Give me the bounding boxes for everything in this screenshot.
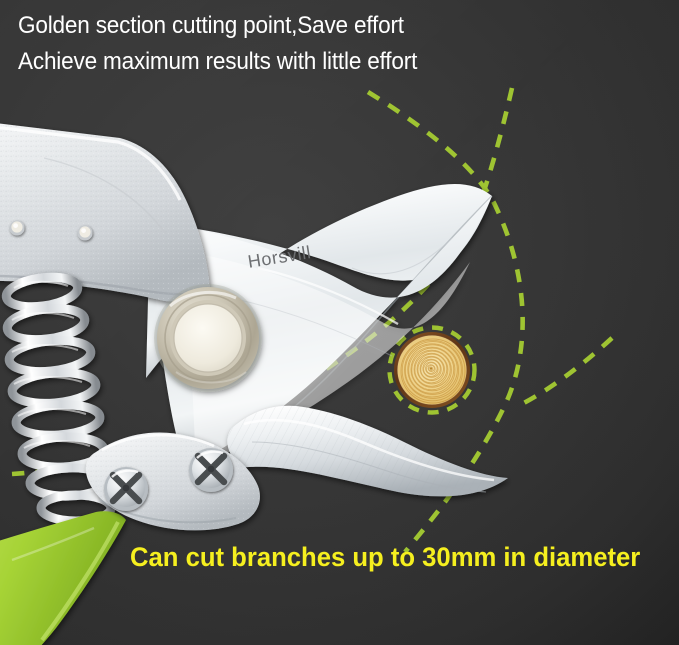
upper-handle-casting [0, 118, 210, 302]
pivot-bolt [154, 284, 262, 392]
lower-handle-grip [0, 511, 126, 645]
product-image-canvas: Golden section cutting point,Save effort… [0, 0, 679, 645]
phillips-screw-left [104, 467, 148, 511]
feature-caption: Can cut branches up to 30mm in diameter [130, 540, 640, 574]
headline-line-1: Golden section cutting point,Save effort [18, 8, 601, 44]
headline-line-2: Achieve maximum results with little effo… [18, 44, 601, 80]
phillips-screw-right [189, 448, 233, 492]
handle-rivet-left [10, 221, 25, 236]
headline-block: Golden section cutting point,Save effort… [18, 8, 638, 80]
wood-log-cross-section [394, 332, 470, 408]
lower-anvil-blade [227, 406, 508, 497]
handle-rivet-right [78, 226, 93, 241]
golden-section-arc-tail [522, 338, 612, 404]
